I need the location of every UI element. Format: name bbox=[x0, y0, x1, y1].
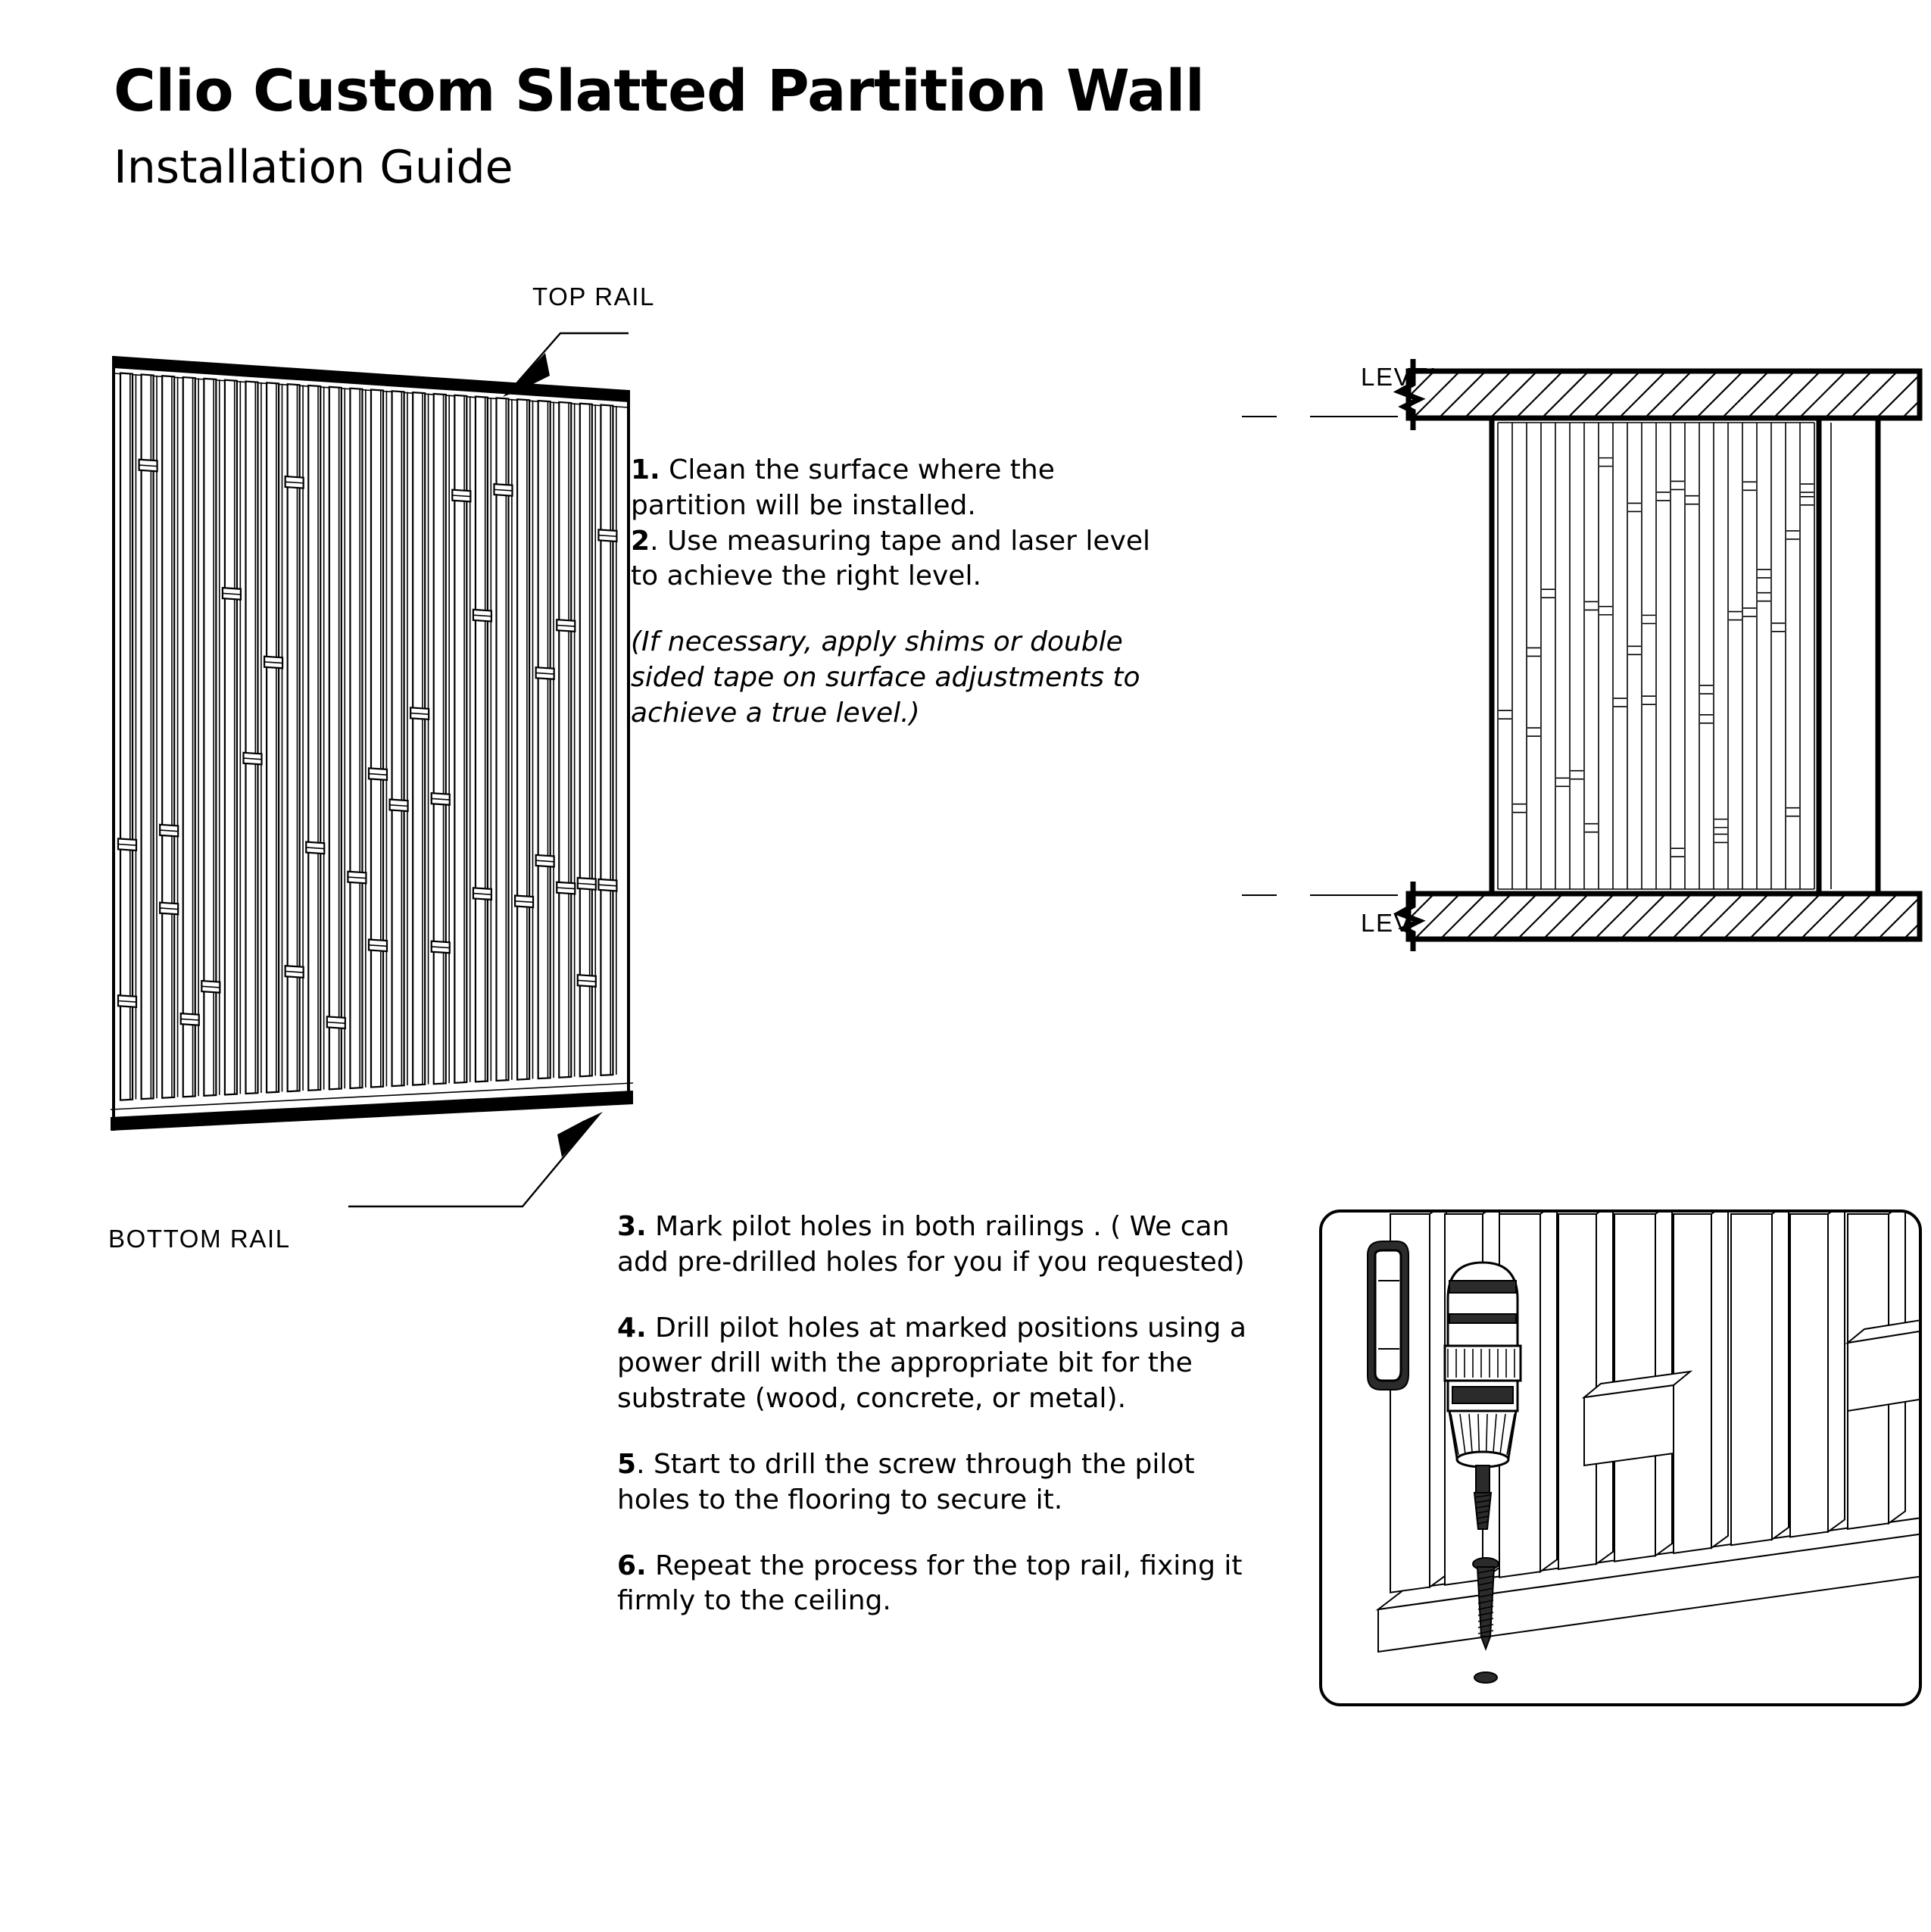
detail-slat-side bbox=[1828, 1202, 1845, 1532]
drill-vent bbox=[1449, 1281, 1516, 1293]
step-6-number: 6. bbox=[617, 1550, 647, 1581]
spacer bbox=[617, 1281, 1265, 1311]
step-6: 6. Repeat the process for the top rail, … bbox=[617, 1549, 1265, 1620]
drill-vent bbox=[1449, 1314, 1516, 1323]
step-5-number: 5 bbox=[617, 1449, 636, 1480]
figure-isometric-panel bbox=[98, 303, 659, 1257]
detail-slat-side bbox=[1772, 1202, 1789, 1540]
detail-slat-side bbox=[1430, 1202, 1446, 1587]
laser-level-window bbox=[1375, 1250, 1401, 1381]
step-2-number: 2 bbox=[631, 526, 650, 557]
step-4-text: Drill pilot holes at marked positions us… bbox=[617, 1312, 1246, 1415]
drill-motor-housing bbox=[1448, 1263, 1518, 1346]
step-4: 4. Drill pilot holes at marked positions… bbox=[617, 1311, 1265, 1417]
step-2: 2. Use measuring tape and laser level to… bbox=[631, 524, 1176, 595]
iso-panel-group bbox=[111, 356, 633, 1131]
step-3-text: Mark pilot holes in both railings . ( We… bbox=[617, 1211, 1245, 1278]
document-header: Clio Custom Slatted Partition Wall Insta… bbox=[114, 61, 1204, 192]
step-3-number: 3. bbox=[617, 1211, 647, 1242]
step-1-text: Clean the surface where the partition wi… bbox=[631, 454, 1055, 521]
detail-slat-side bbox=[1540, 1202, 1557, 1572]
drill-detail-group bbox=[1321, 1202, 1931, 1705]
figure-drill-detail bbox=[1318, 1208, 1923, 1708]
detail-slat bbox=[1731, 1214, 1772, 1545]
instructions-upper: 1. Clean the surface where the partition… bbox=[631, 453, 1176, 732]
step-1: 1. Clean the surface where the partition… bbox=[631, 453, 1176, 524]
drill-bit bbox=[1476, 1465, 1490, 1493]
figure-elevation bbox=[1242, 333, 1923, 1000]
spacer bbox=[617, 1417, 1265, 1447]
step-4-number: 4. bbox=[617, 1312, 647, 1344]
note-shims: (If necessary, apply shims or double sid… bbox=[631, 625, 1176, 731]
detail-slat bbox=[1674, 1214, 1711, 1553]
instructions-lower: 3. Mark pilot holes in both railings . (… bbox=[617, 1209, 1265, 1619]
page-subtitle: Installation Guide bbox=[114, 144, 1204, 192]
ceiling-slab bbox=[1408, 371, 1920, 418]
arrowhead-bottom-rail bbox=[557, 1112, 603, 1157]
pilot-hole bbox=[1474, 1672, 1497, 1683]
step-5: 5. Start to drill the screw through the … bbox=[617, 1447, 1265, 1518]
detail-slat bbox=[1790, 1214, 1828, 1537]
spacer bbox=[617, 1518, 1265, 1549]
elevation-group bbox=[1242, 359, 1920, 951]
drill-gear-window bbox=[1452, 1387, 1513, 1403]
detail-slat-side bbox=[1711, 1202, 1728, 1548]
step-1-number: 1. bbox=[631, 454, 660, 485]
step-3: 3. Mark pilot holes in both railings . (… bbox=[617, 1209, 1265, 1281]
spacer bbox=[631, 595, 1176, 625]
leader-line-bottom-rail bbox=[348, 1116, 598, 1206]
detail-cross-rail bbox=[1848, 1331, 1923, 1411]
step-2-text: . Use measuring tape and laser level to … bbox=[631, 526, 1150, 592]
step-5-text: . Start to drill the screw through the p… bbox=[617, 1449, 1195, 1515]
detail-cross-rail bbox=[1584, 1385, 1674, 1465]
step-6-text: Repeat the process for the top rail, fix… bbox=[617, 1550, 1243, 1617]
page-title: Clio Custom Slatted Partition Wall bbox=[114, 61, 1204, 121]
floor-slab bbox=[1408, 894, 1920, 939]
